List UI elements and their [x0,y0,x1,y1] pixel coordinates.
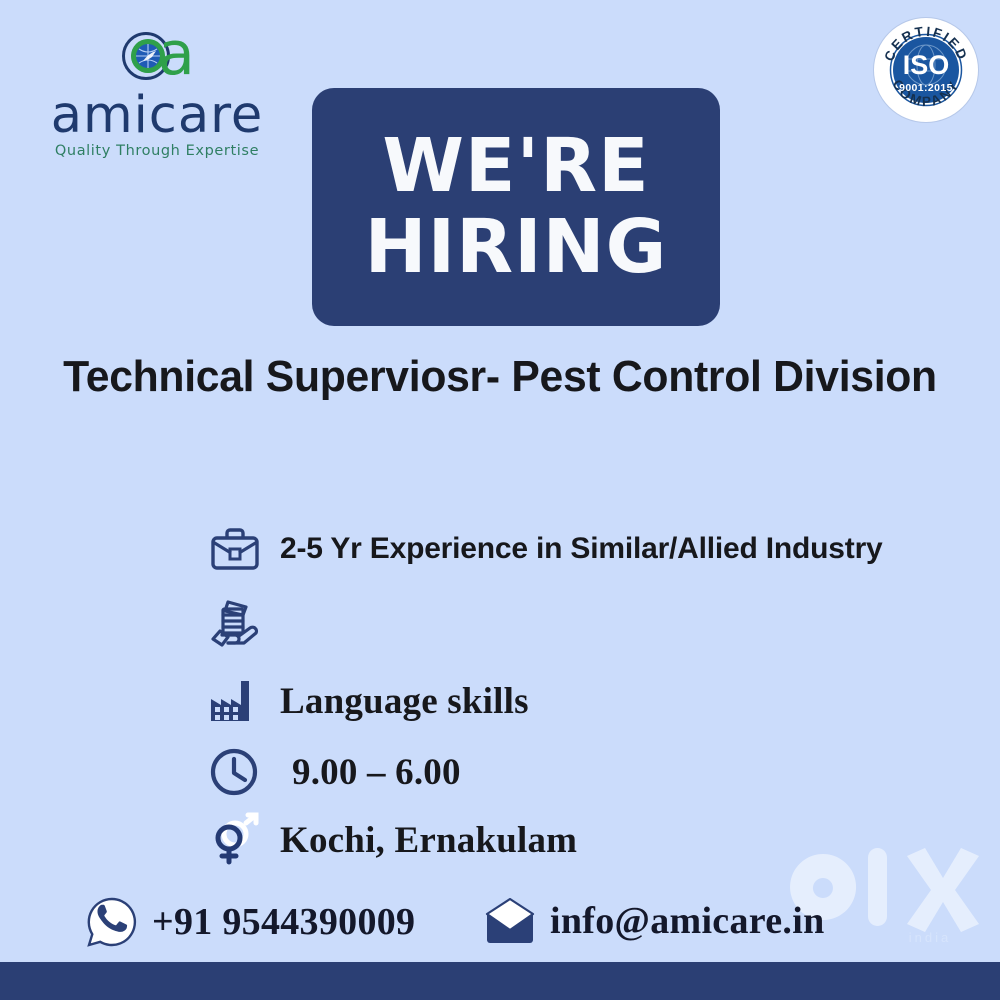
hiring-poster: a amicare Quality Through Expertise CERT… [0,0,1000,1000]
email-address: info@amicare.in [550,899,825,943]
briefcase-icon [208,524,280,574]
clock-icon [208,746,280,798]
logo-letter-a: a [158,24,195,84]
factory-icon [208,677,280,725]
detail-text-language: Language skills [280,680,529,723]
job-details-list: 2-5 Yr Experience in Similar/Allied Indu… [208,518,968,872]
detail-row-experience: 2-5 Yr Experience in Similar/Allied Indu… [208,518,968,580]
hand-holding-cash-icon [208,592,280,654]
banner-line-2: HIRING [365,211,668,284]
iso-certification-badge: CERTIFIED COMPANY ISO 9001:2015 [874,18,978,122]
logo-mark-icon: a [118,28,196,90]
detail-row-working-hours: 9.00 – 6.00 [208,736,968,808]
gender-symbols-icon [208,812,280,868]
logo-tagline: Quality Through Expertise [32,143,282,159]
envelope-icon [484,898,536,944]
logo-wordmark: amicare [32,92,282,140]
detail-text-location: Kochi, Ernakulam [280,819,577,862]
job-title: Technical Superviosr- Pest Control Divis… [15,352,985,402]
contact-email[interactable]: info@amicare.in [484,898,825,944]
svg-text:9001:2015: 9001:2015 [899,82,953,94]
phone-number: +91 9544390009 [152,900,415,944]
were-hiring-banner: WE'RE HIRING [312,88,720,326]
detail-text-experience: 2-5 Yr Experience in Similar/Allied Indu… [280,532,883,566]
detail-text-working-hours: 9.00 – 6.00 [280,751,461,794]
banner-line-1: WE'RE [382,130,649,203]
contact-footer: +91 9544390009 info@amicare.in [0,896,1000,958]
bottom-accent-bar [0,962,1000,1000]
contact-phone[interactable]: +91 9544390009 [86,896,415,948]
detail-row-salary [208,580,968,666]
whatsapp-icon [86,896,138,948]
detail-row-location: Kochi, Ernakulam [208,808,968,872]
detail-row-language: Language skills [208,666,968,736]
company-logo: a amicare Quality Through Expertise [32,28,282,159]
svg-text:ISO: ISO [903,50,950,80]
